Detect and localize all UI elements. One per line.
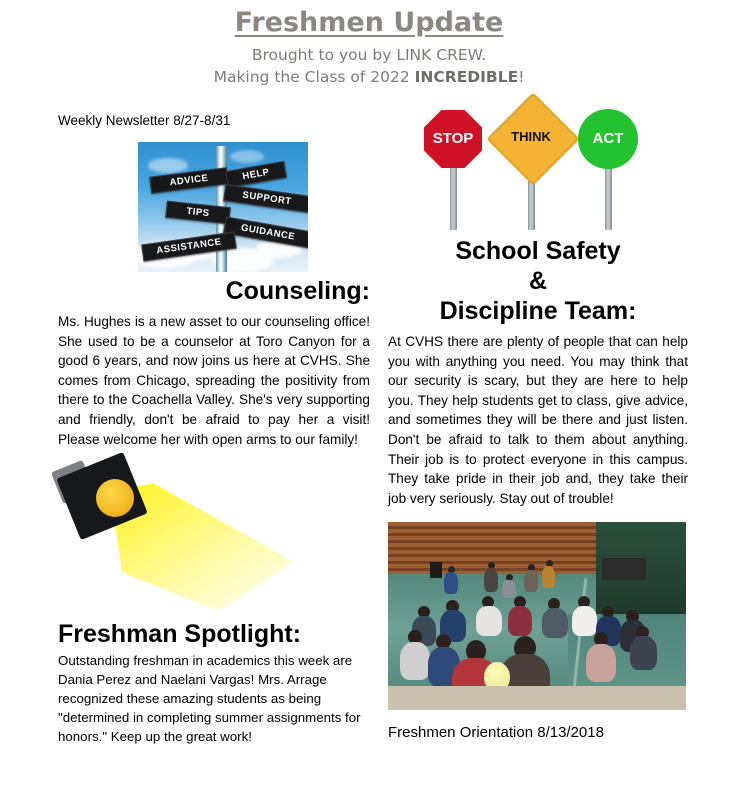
person-seated [476, 606, 502, 636]
direction-sign-help: HELP [225, 161, 287, 188]
act-sign: ACT [578, 109, 638, 169]
person-seated [400, 642, 430, 680]
person-seated [542, 608, 568, 638]
direction-sign-support: SUPPORT [223, 184, 308, 213]
safety-heading-line-3: Discipline Team: [388, 296, 688, 326]
foreground-strip [388, 686, 686, 710]
safety-heading-line-2: & [388, 266, 688, 296]
person-seated [502, 580, 516, 598]
subtitle-emphasis: INCREDIBLE [415, 68, 519, 86]
equipment-cart [602, 558, 646, 580]
newsletter-date-kicker: Weekly Newsletter 8/27-8/31 [58, 112, 370, 130]
stop-sign: STOP [424, 110, 482, 168]
person-seated [508, 606, 532, 636]
freshmen-orientation-photo [388, 522, 686, 710]
think-sign: THINK [500, 106, 562, 168]
person-seated [572, 606, 597, 636]
subtitle-prefix: Making the Class of 2022 [214, 68, 415, 86]
signpost-image: ADVICE HELP SUPPORT TIPS GUIDANCE ASSIST… [138, 142, 308, 272]
left-column: Weekly Newsletter 8/27-8/31 ADVICE HELP … [58, 112, 370, 746]
safety-body-text: At CVHS there are plenty of people that … [388, 332, 688, 508]
subtitle-suffix: ! [518, 68, 524, 86]
lamp-lens-shape [96, 479, 134, 517]
safety-signs-image: STOP THINK ACT [418, 104, 658, 232]
cloud-shape [148, 158, 188, 173]
masthead: Freshmen Update Brought to you by LINK C… [0, 6, 738, 88]
person-standing [444, 572, 458, 594]
masthead-subtitle-line2: Making the Class of 2022 INCREDIBLE! [0, 66, 738, 88]
counseling-body-text: Ms. Hughes is a new asset to our counsel… [58, 312, 370, 449]
person-standing [542, 566, 555, 588]
person-seated [586, 644, 616, 682]
masthead-subtitle-line1: Brought to you by LINK CREW. [0, 44, 738, 66]
freshman-spotlight-heading: Freshman Spotlight: [58, 619, 370, 649]
masthead-subtitle: Brought to you by LINK CREW. Making the … [0, 44, 738, 88]
speaker-box [430, 562, 442, 578]
right-column: STOP THINK ACT School Safety & Disciplin… [388, 104, 688, 744]
person-standing [524, 570, 538, 592]
person-seated [630, 636, 657, 670]
page-title: Freshmen Update [0, 6, 738, 40]
person-standing [484, 568, 498, 592]
sign-rod [450, 164, 457, 230]
counseling-heading: Counseling: [58, 276, 370, 306]
spotlight-lamp-image [64, 463, 294, 613]
freshman-spotlight-body-text: Outstanding freshman in academics this w… [58, 651, 370, 746]
cloud-shape [230, 150, 264, 163]
sign-rod [605, 166, 612, 230]
safety-heading-line-1: School Safety [388, 236, 688, 266]
photo-caption: Freshmen Orientation 8/13/2018 [388, 722, 688, 744]
